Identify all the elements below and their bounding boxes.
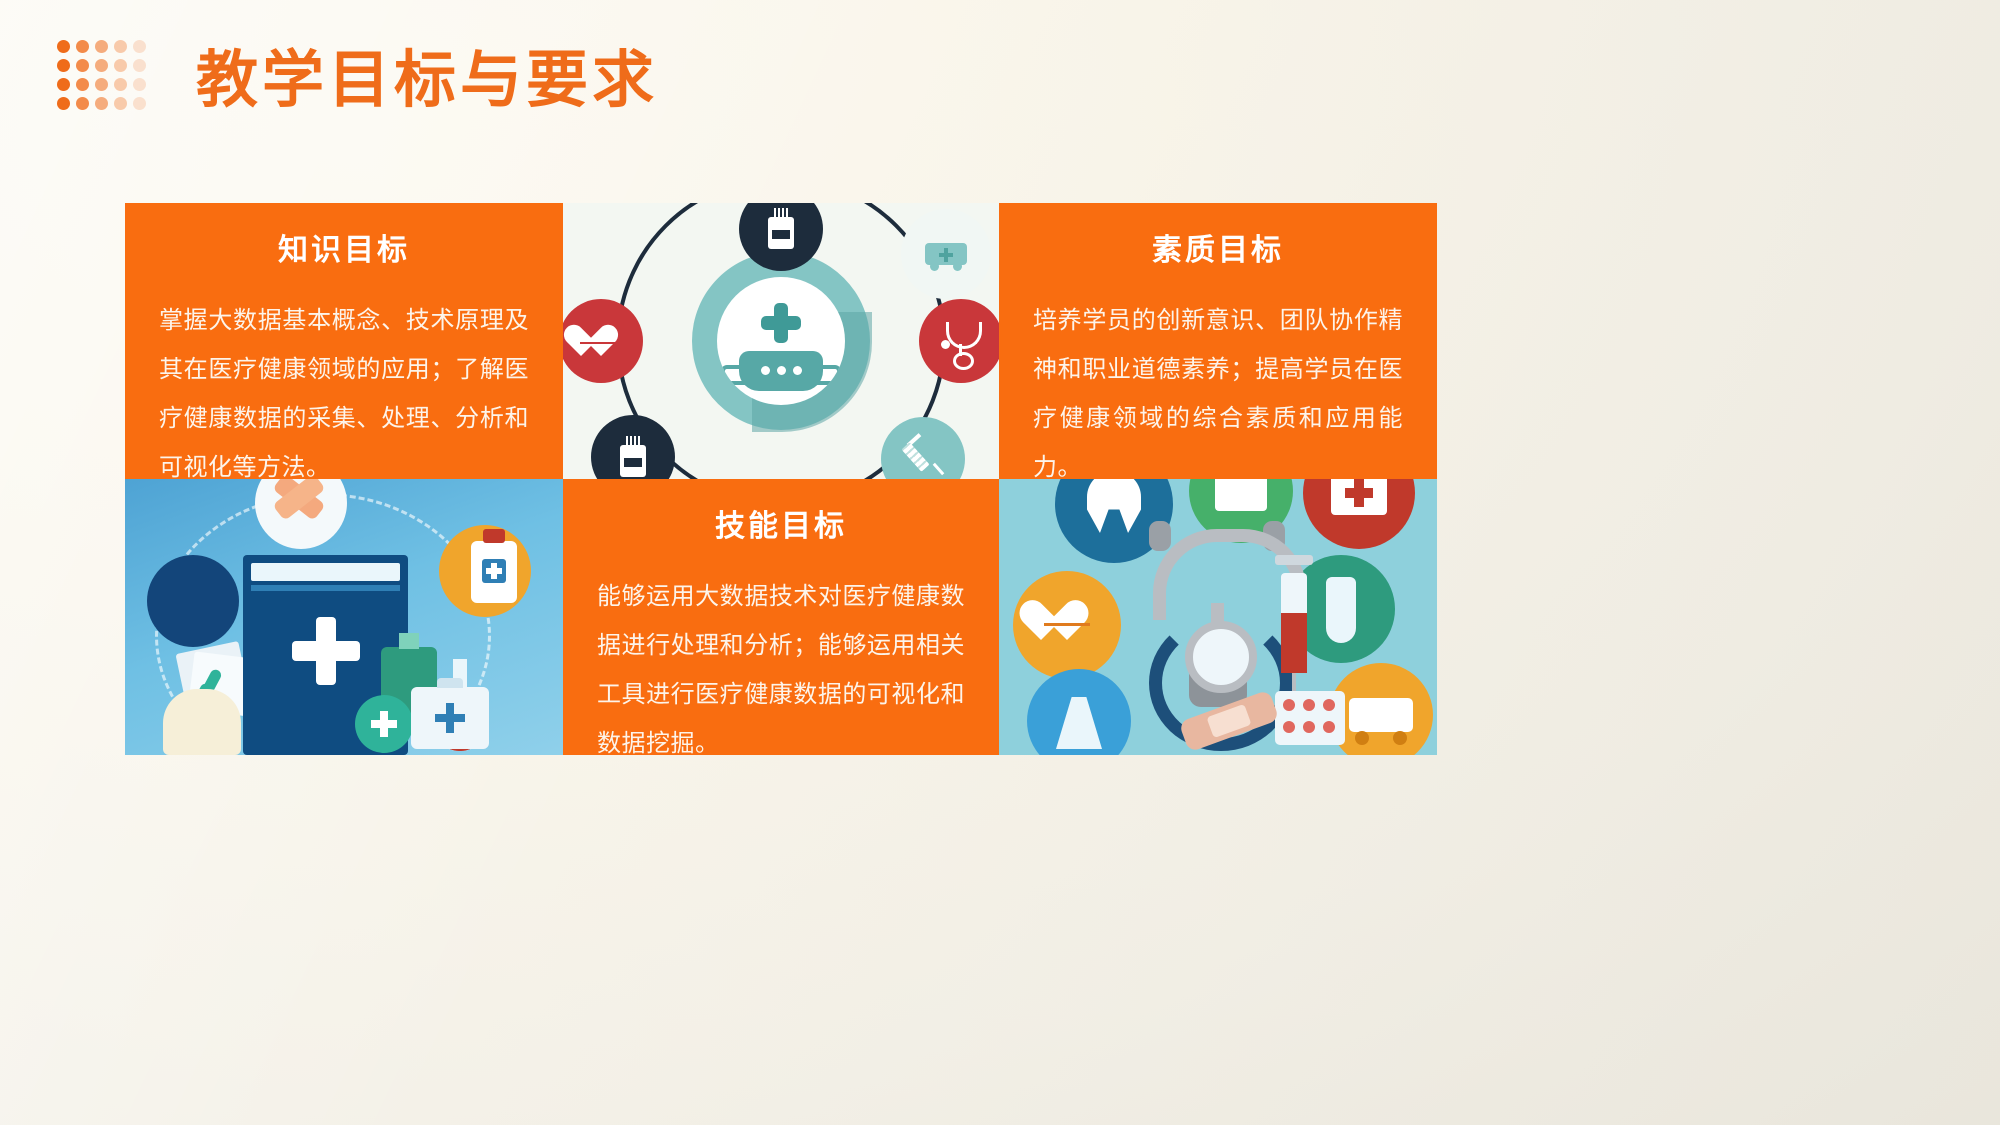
nurse-avatar [692, 252, 870, 430]
first-aid-kit-icon [411, 687, 489, 749]
card-quality-title: 素质目标 [1152, 231, 1284, 271]
page-title: 教学目标与要求 [196, 42, 658, 120]
prescription-paper-icon [147, 555, 239, 647]
card-quality-body: 培养学员的创新意识、团队协作精神和职业道德素养；提高学员在医疗健康领域的综合素质… [1033, 297, 1403, 479]
card-knowledge-title: 知识目标 [278, 231, 410, 271]
pills-icon [1275, 691, 1345, 745]
illustration-medical-tools [999, 479, 1437, 755]
card-skill-body: 能够运用大数据技术对医疗健康数据进行处理和分析；能够运用相关工具进行医疗健康数据… [597, 573, 965, 755]
card-knowledge[interactable]: 知识目标 掌握大数据基本概念、技术原理及其在医疗健康领域的应用；了解医疗健康数据… [125, 203, 563, 479]
medical-cross-icon [761, 303, 801, 343]
slide-header: 教学目标与要求 [0, 0, 2000, 170]
flask-icon [1027, 669, 1131, 755]
card-knowledge-body: 掌握大数据基本概念、技术原理及其在医疗健康领域的应用；了解医疗健康数据的采集、处… [159, 297, 529, 479]
heart-ecg-icon [1013, 571, 1121, 679]
card-quality[interactable]: 素质目标 培养学员的创新意识、团队协作精神和职业道德素养；提高学员在医疗健康领域… [999, 203, 1437, 479]
content-grid: 知识目标 掌握大数据基本概念、技术原理及其在医疗健康领域的应用；了解医疗健康数据… [125, 203, 1437, 755]
stethoscope-icon [919, 299, 999, 383]
heart-ecg-icon [563, 299, 643, 383]
card-skill-title: 技能目标 [715, 507, 847, 547]
glove-icon [163, 689, 241, 755]
ambulance-icon [901, 209, 991, 299]
illustration-medical-network [563, 203, 999, 479]
illustration-lab-book [125, 479, 563, 755]
dot-grid-icon [57, 40, 152, 116]
syringe-icon [1267, 555, 1321, 705]
first-aid-circle-icon [355, 695, 413, 753]
first-aid-icon [1303, 479, 1415, 549]
head-mirror-icon [1185, 621, 1257, 693]
medicine-bottle-icon [471, 541, 517, 603]
face-mask-icon [739, 351, 823, 391]
card-skill[interactable]: 技能目标 能够运用大数据技术对医疗健康数据进行处理和分析；能够运用相关工具进行医… [563, 479, 999, 755]
